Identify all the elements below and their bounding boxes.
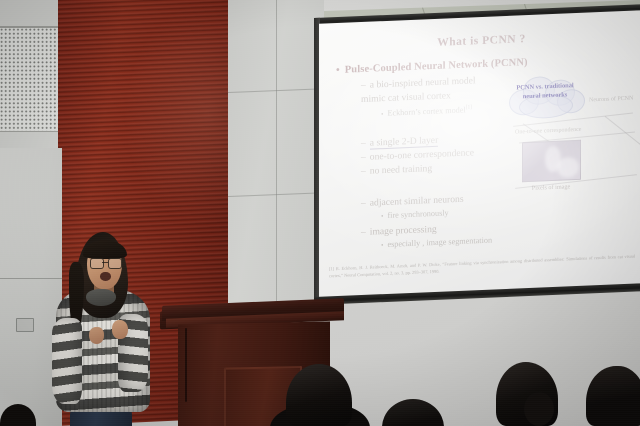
slide-subsubbullet-text: fire synchronously: [387, 208, 448, 220]
side-wall-segment: [228, 0, 324, 330]
projection-screen: What is PCNN ? •Pulse-Coupled Neural Net…: [314, 4, 640, 318]
presenter-left-arm: [52, 318, 82, 404]
presenter-right-hand: [112, 320, 128, 339]
presentation-slide: What is PCNN ? •Pulse-Coupled Neural Net…: [319, 10, 640, 298]
slide-subbullet: –no need training: [361, 163, 432, 177]
dash-icon: –: [361, 152, 366, 163]
slide-subbullet-text: mimic cat visual cortex: [361, 90, 451, 105]
wall-outlet: [16, 318, 34, 332]
slide-subsubbullet: •especially , image segmentation: [381, 236, 492, 250]
slide-subbullet: mimic cat visual cortex: [361, 90, 451, 105]
slide-subbullet: –image processing: [361, 224, 437, 238]
presenter-bangs: [83, 240, 127, 259]
embedded-image-caption: Pixels of image: [515, 183, 587, 193]
slide-subbullet-text: one-to-one correspondence: [370, 147, 474, 162]
lectern-cable: [185, 328, 187, 402]
presenter-person: [42, 232, 164, 426]
cloud-callout-text: PCNN vs. traditional neural networks: [511, 82, 579, 103]
dash-icon: –: [361, 80, 366, 91]
diagram-correspondence-label: One-to-one correspondence: [515, 126, 611, 136]
slide-subbullet: –one-to-one correspondence: [361, 147, 474, 163]
slide-subbullet-text: image processing: [370, 224, 437, 238]
slide-subsubbullet-text: Eckhorn’s cortex model: [387, 105, 465, 117]
slide-subbullet-text: adjacent similar neurons: [370, 194, 464, 209]
screen-surface: What is PCNN ? •Pulse-Coupled Neural Net…: [319, 10, 640, 298]
diagram-grid-label: Neurons of PCNN: [589, 96, 633, 104]
presenter-left-hand: [89, 327, 104, 344]
dash-icon: –: [361, 166, 366, 177]
dash-icon: –: [361, 227, 366, 238]
slide-subbullet: –a single 2-D layer: [361, 135, 438, 149]
bullet-dash-icon: •: [336, 65, 340, 76]
slide-subbullet-text: a single 2-D layer: [370, 135, 438, 150]
slide-subbullet-text: no need training: [370, 163, 432, 177]
dash-icon: –: [361, 138, 366, 149]
slide-subbullet: –adjacent similar neurons: [361, 194, 464, 209]
slide-bullet-level1-text: Pulse-Coupled Neural Network (PCNN): [345, 57, 528, 76]
embedded-sample-image: [522, 140, 581, 182]
bullet-dot-icon: •: [381, 110, 383, 118]
bullet-dot-icon: •: [381, 212, 383, 220]
slide-subbullet: –a bio-inspired neural model: [361, 75, 476, 91]
slide-subsubbullet-text: especially , image segmentation: [387, 236, 492, 249]
slide-title: What is PCNN ?: [319, 28, 640, 54]
slide-subsubbullet: •fire synchronously: [381, 208, 449, 220]
dash-icon: –: [361, 198, 366, 209]
slide-subbullet-text: a bio-inspired neural model: [370, 75, 476, 90]
eyeglasses-icon: [90, 258, 123, 267]
photograph-lecture-presentation: What is PCNN ? •Pulse-Coupled Neural Net…: [0, 0, 640, 426]
perforated-panel-texture: [0, 28, 66, 131]
slide-footer-citation: [1] R. Eckhorn, H. J. Reitboeck, M. Arnd…: [329, 254, 635, 280]
slide-bullet-level1: •Pulse-Coupled Neural Network (PCNN): [336, 57, 528, 76]
presenter-mouth: [100, 272, 111, 281]
slide-subsubbullet: •Eckhorn’s cortex model[1]: [381, 104, 472, 118]
bullet-dot-icon: •: [381, 241, 383, 249]
sweater-collar: [86, 289, 116, 306]
audience-hair-bun: [524, 392, 554, 426]
citation-marker: [1]: [466, 104, 472, 110]
cloud-callout-shape: PCNN vs. traditional neural networks: [505, 73, 585, 120]
